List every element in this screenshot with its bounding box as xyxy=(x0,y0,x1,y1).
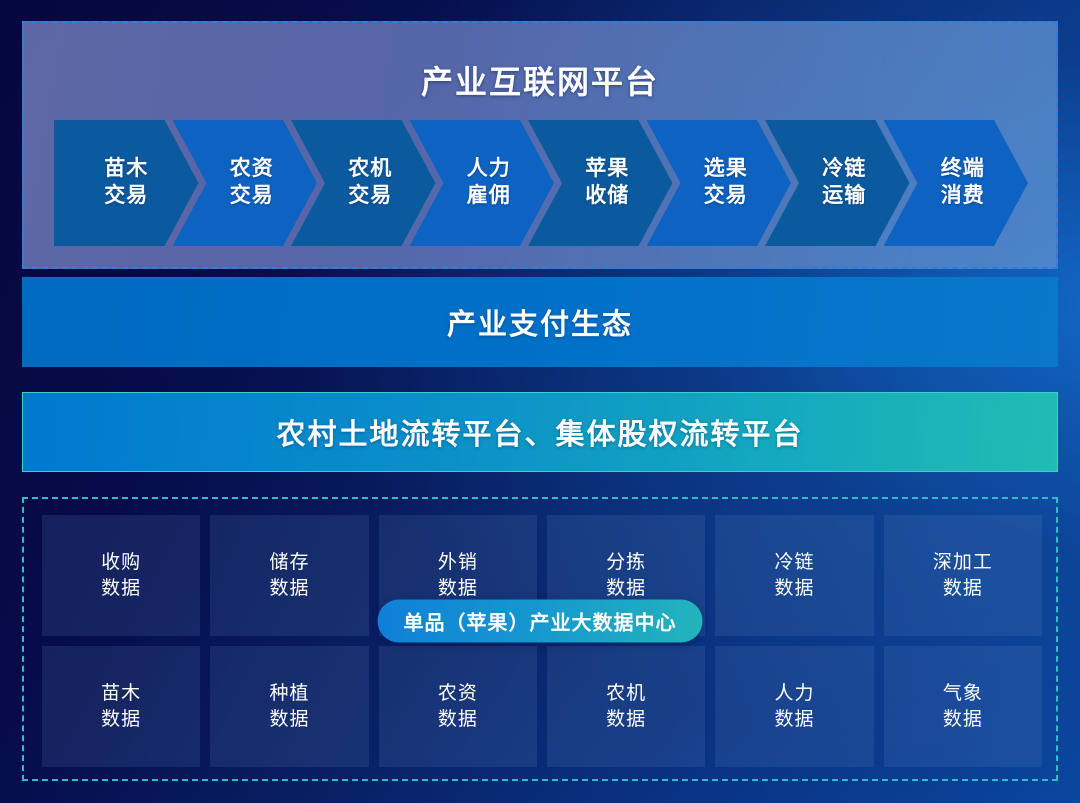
data-cell-7[interactable]: 苗木 数据 xyxy=(42,646,200,767)
chevron-step-7-label: 冷链 运输 xyxy=(822,156,866,210)
page-title: 产业互联网平台 xyxy=(24,57,1056,103)
data-cell-8[interactable]: 种植 数据 xyxy=(210,646,368,767)
chevron-step-5-label: 苹果 收储 xyxy=(585,156,629,210)
data-cell-12-label: 气象 数据 xyxy=(943,681,983,731)
data-cell-2-label: 储存 数据 xyxy=(269,550,309,600)
data-cell-4-label: 分拣 数据 xyxy=(606,550,646,600)
data-cell-6[interactable]: 深加工 数据 xyxy=(884,515,1042,636)
data-cell-11[interactable]: 人力 数据 xyxy=(715,646,873,767)
data-cell-5[interactable]: 冷链 数据 xyxy=(715,515,873,636)
data-cell-2[interactable]: 储存 数据 xyxy=(210,515,368,636)
diagram-canvas: 产业互联网平台 苗木 交易 农资 交易 农机 交易 人力 雇佣 苹果 收储 选果… xyxy=(0,0,1080,803)
chevron-step-2-label: 农资 交易 xyxy=(230,156,274,210)
industrial-internet-platform-panel: 产业互联网平台 苗木 交易 农资 交易 农机 交易 人力 雇佣 苹果 收储 选果… xyxy=(22,21,1058,269)
data-cell-12[interactable]: 气象 数据 xyxy=(884,646,1042,767)
data-cell-10[interactable]: 农机 数据 xyxy=(547,646,705,767)
data-cell-3-label: 外销 数据 xyxy=(438,550,478,600)
data-cell-7-label: 苗木 数据 xyxy=(101,681,141,731)
land-transfer-label: 农村土地流转平台、集体股权流转平台 xyxy=(276,411,803,453)
land-transfer-band[interactable]: 农村土地流转平台、集体股权流转平台 xyxy=(22,392,1058,472)
chevron-step-3-label: 农机 交易 xyxy=(348,156,392,210)
chevron-step-6-label: 选果 交易 xyxy=(704,156,748,210)
data-cell-6-label: 深加工 数据 xyxy=(933,550,993,600)
data-cell-9-label: 农资 数据 xyxy=(438,681,478,731)
data-cell-9[interactable]: 农资 数据 xyxy=(379,646,537,767)
data-cell-1-label: 收购 数据 xyxy=(101,550,141,600)
chevron-step-4-label: 人力 雇佣 xyxy=(467,156,511,210)
payment-ecosystem-label: 产业支付生态 xyxy=(447,301,633,343)
chevron-step-8-label: 终端 消费 xyxy=(941,156,985,210)
payment-ecosystem-band[interactable]: 产业支付生态 xyxy=(22,277,1058,367)
value-chain-chevron-row: 苗木 交易 农资 交易 农机 交易 人力 雇佣 苹果 收储 选果 交易 冷链 运… xyxy=(54,120,1028,246)
data-cell-10-label: 农机 数据 xyxy=(606,681,646,731)
chevron-step-1[interactable]: 苗木 交易 xyxy=(54,120,199,246)
data-cell-8-label: 种植 数据 xyxy=(269,681,309,731)
data-cell-5-label: 冷链 数据 xyxy=(774,550,814,600)
chevron-step-1-label: 苗木 交易 xyxy=(104,156,148,210)
big-data-center-panel: 收购 数据 储存 数据 外销 数据 分拣 数据 冷链 数据 深加工 数据 苗木 … xyxy=(22,497,1058,781)
data-cell-1[interactable]: 收购 数据 xyxy=(42,515,200,636)
big-data-center-pill[interactable]: 单品（苹果）产业大数据中心 xyxy=(378,600,703,643)
data-cell-11-label: 人力 数据 xyxy=(774,681,814,731)
